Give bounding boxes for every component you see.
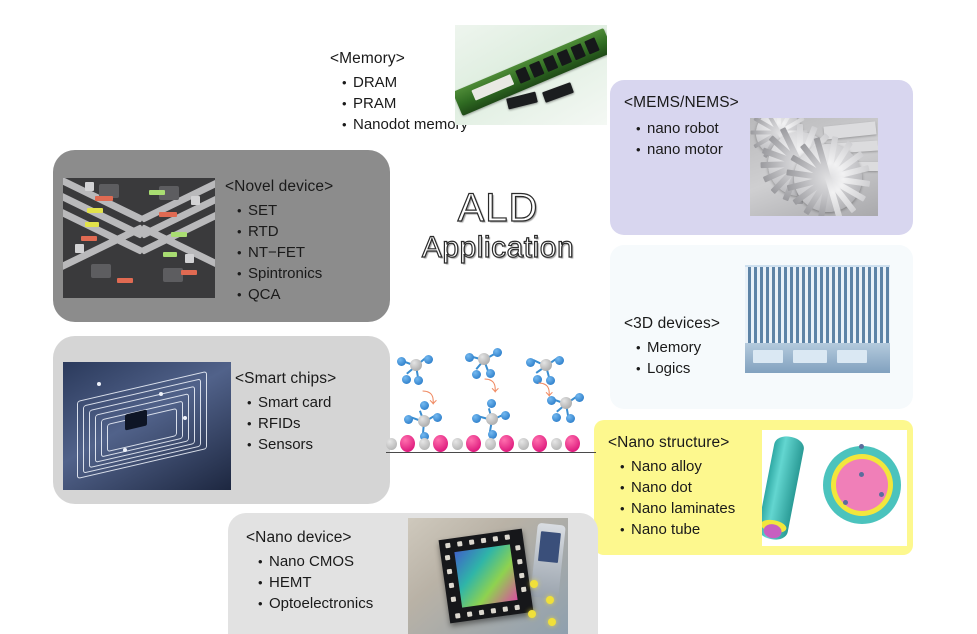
list-item: RFIDs bbox=[247, 413, 336, 434]
dram-chip bbox=[543, 55, 559, 72]
panel-nano-device-text: <Nano device> Nano CMOS HEMT Optoelectro… bbox=[246, 529, 373, 614]
sensor-die bbox=[454, 544, 517, 607]
list-item: Nano CMOS bbox=[258, 551, 373, 572]
list-item: RTD bbox=[237, 221, 333, 242]
nanotube-cylinder bbox=[762, 434, 806, 542]
panel-3d-devices-list: Memory Logics bbox=[624, 337, 720, 379]
list-item: Nano dot bbox=[620, 477, 735, 498]
nanotube-cross-section-illustration bbox=[762, 430, 907, 546]
list-item: Smart card bbox=[247, 392, 336, 413]
panel-smart-chips-title: <Smart chips> bbox=[235, 370, 336, 388]
panel-nano-device-list: Nano CMOS HEMT Optoelectronics bbox=[246, 551, 373, 614]
panel-nano-structure-list: Nano alloy Nano dot Nano laminates Nano … bbox=[608, 456, 735, 540]
gear-icon bbox=[794, 144, 862, 212]
dram-chip bbox=[570, 43, 586, 60]
list-item: QCA bbox=[237, 284, 333, 305]
panel-mems-nems-title: <MEMS/NEMS> bbox=[624, 94, 739, 112]
list-item: nano motor bbox=[636, 139, 739, 160]
list-item: Nano alloy bbox=[620, 456, 735, 477]
list-item: Logics bbox=[636, 358, 720, 379]
title-line-ald: ALD bbox=[398, 186, 598, 230]
panel-mems-nems-list: nano robot nano motor bbox=[624, 118, 739, 160]
title-line-application: Application bbox=[398, 230, 598, 266]
dram-chip bbox=[529, 61, 545, 78]
panel-smart-chips-text: <Smart chips> Smart card RFIDs Sensors bbox=[235, 370, 336, 455]
sem-crossbar-device-photo bbox=[63, 178, 215, 298]
list-item: HEMT bbox=[258, 572, 373, 593]
loose-memory-chip bbox=[542, 82, 574, 103]
list-item: Nano tube bbox=[620, 519, 735, 540]
precursor-molecule bbox=[464, 339, 504, 379]
micro-gears-sem-photo bbox=[750, 118, 878, 216]
dram-chip bbox=[557, 49, 573, 66]
panel-nano-device-title: <Nano device> bbox=[246, 529, 373, 547]
list-item: nano robot bbox=[636, 118, 739, 139]
list-item: Nano laminates bbox=[620, 498, 735, 519]
ald-surface-reaction-schematic: ⤵ ⤵ ⤵ bbox=[386, 343, 596, 455]
deposition-arrow-icon: ⤵ bbox=[484, 379, 499, 394]
dram-chip bbox=[515, 67, 531, 84]
sensor-package bbox=[439, 529, 534, 624]
panel-nano-structure-text: <Nano structure> Nano alloy Nano dot Nan… bbox=[608, 434, 735, 540]
list-item: Optoelectronics bbox=[258, 593, 373, 614]
panel-nano-structure-title: <Nano structure> bbox=[608, 434, 735, 452]
dram-chip bbox=[584, 37, 600, 54]
panel-novel-device-list: SET RTD NT−FET Spintronics QCA bbox=[225, 200, 333, 305]
list-item: NT−FET bbox=[237, 242, 333, 263]
mobile-phone-background bbox=[530, 523, 566, 600]
page-title: ALD Application bbox=[398, 186, 598, 266]
precursor-molecule bbox=[396, 345, 436, 385]
dram-module-photo bbox=[455, 25, 607, 125]
list-item: Sensors bbox=[247, 434, 336, 455]
panel-novel-device-title: <Novel device> bbox=[225, 178, 333, 196]
stacked-3d-array-sem-photo bbox=[745, 265, 890, 373]
list-item: Spintronics bbox=[237, 263, 333, 284]
ald-application-diagram: <Memory> DRAM PRAM Nanodot memory <MEMS/… bbox=[0, 0, 977, 634]
dram-label-sticker bbox=[471, 74, 514, 101]
panel-3d-devices-text: <3D devices> Memory Logics bbox=[624, 315, 720, 379]
panel-smart-chips-list: Smart card RFIDs Sensors bbox=[235, 392, 336, 455]
rfid-antenna-photo bbox=[63, 362, 231, 490]
nanotube-cross-section bbox=[823, 446, 901, 524]
list-item: Memory bbox=[636, 337, 720, 358]
panel-novel-device-text: <Novel device> SET RTD NT−FET Spintronic… bbox=[225, 178, 333, 305]
panel-3d-devices-title: <3D devices> bbox=[624, 315, 720, 333]
substrate-surface bbox=[386, 433, 596, 455]
list-item: SET bbox=[237, 200, 333, 221]
cmos-image-sensor-photo bbox=[408, 518, 568, 634]
precursor-molecule bbox=[526, 345, 566, 385]
panel-mems-nems-text: <MEMS/NEMS> nano robot nano motor bbox=[624, 94, 739, 160]
deposition-arrow-icon: ⤵ bbox=[538, 383, 553, 398]
